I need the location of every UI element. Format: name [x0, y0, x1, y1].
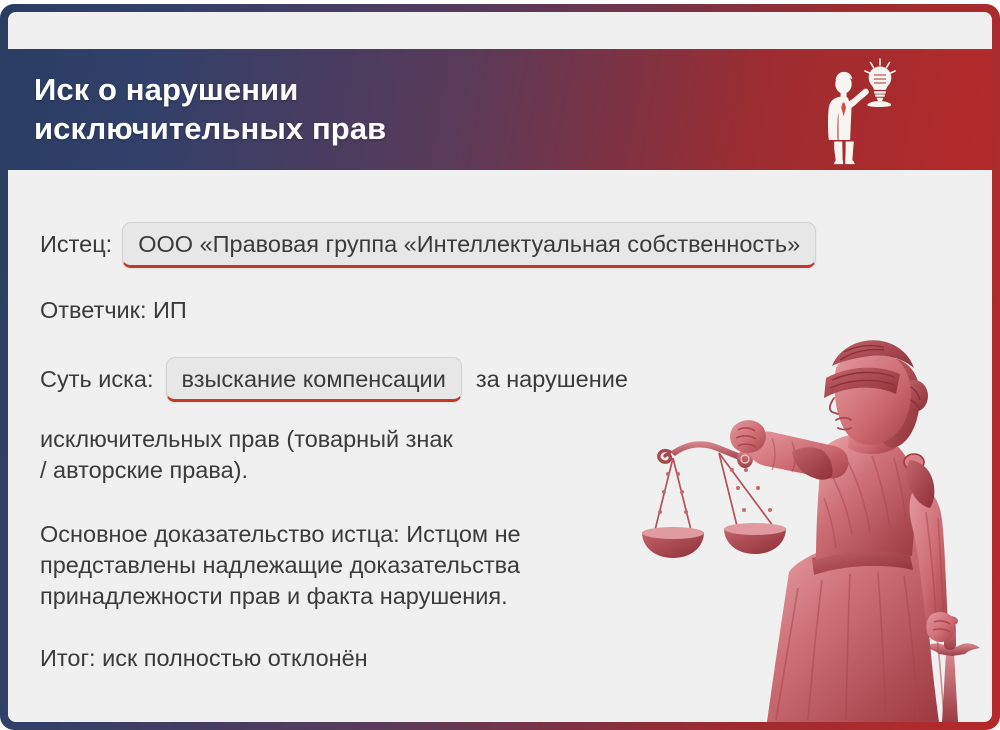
businessman-with-lightbulb-icon [816, 55, 900, 165]
card-body: Истец: ООО «Правовая группа «Интеллектуа… [8, 170, 992, 722]
claim-highlight: взыскание компенсации [166, 357, 462, 403]
infographic-card: Иск о нарушении исключительных прав [0, 4, 1000, 730]
result-row: Итог: иск полностью отклонён [40, 643, 992, 674]
card-inner: Иск о нарушении исключительных прав [8, 12, 992, 722]
plaintiff-label: Истец: [40, 229, 112, 260]
defendant-row: Ответчик: ИП [40, 295, 992, 326]
claim-row: Суть иска: взыскание компенсации за нару… [40, 357, 992, 403]
top-light-strip [8, 12, 992, 49]
content-area: Истец: ООО «Правовая группа «Интеллектуа… [8, 170, 992, 674]
claim-after-text: за нарушение [476, 364, 628, 395]
plaintiff-value-highlight: ООО «Правовая группа «Интеллектуальная с… [122, 222, 816, 268]
page-title: Иск о нарушении исключительных прав [8, 71, 386, 147]
claim-continuation: исключительных прав (товарный знак / авт… [40, 424, 640, 486]
header-banner: Иск о нарушении исключительных прав [8, 49, 992, 170]
evidence-paragraph: Основное доказательство истца: Истцом не… [40, 519, 650, 612]
plaintiff-row: Истец: ООО «Правовая группа «Интеллектуа… [40, 222, 992, 268]
claim-label: Суть иска: [40, 364, 154, 395]
